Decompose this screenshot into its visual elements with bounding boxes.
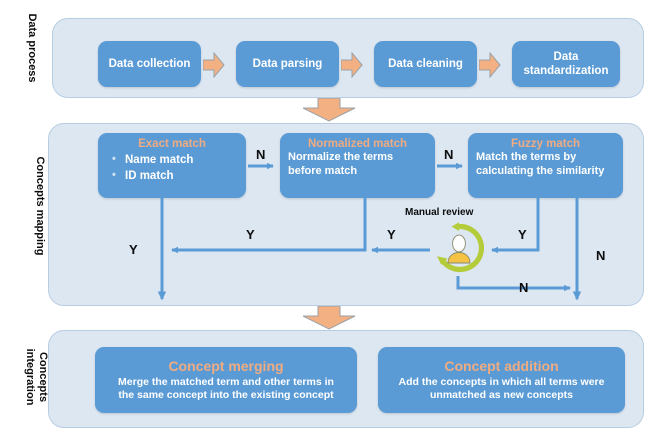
step-normalized-match-line1: Normalize the terms xyxy=(280,151,435,165)
step-concept-addition-line2: unmatched as new concepts xyxy=(378,389,625,402)
manual-review-label: Manual review xyxy=(405,206,473,220)
edge-label-y-exact-down: Y xyxy=(129,243,138,257)
step-fuzzy-match-title: Fuzzy match xyxy=(468,137,623,151)
edge-label-n-fuzzy-down: N xyxy=(596,249,605,263)
step-concept-addition[interactable]: Concept addition Add the concepts in whi… xyxy=(378,347,625,413)
step-concept-merging-title: Concept merging xyxy=(95,358,357,375)
step-normalized-match-title: Normalized match xyxy=(280,137,435,151)
section-label-concepts-integration: Concepts integration xyxy=(23,332,49,422)
step-data-cleaning[interactable]: Data cleaning xyxy=(374,41,477,87)
step-concept-merging-line1: Merge the matched term and other terms i… xyxy=(95,376,357,389)
diagram-canvas: Data process Data collection Data parsin… xyxy=(0,0,659,445)
step-normalized-match-line2: before match xyxy=(280,165,435,179)
edge-label-y-fuzzy-to-review: Y xyxy=(518,228,527,242)
exact-match-bullet-list: Name match ID match xyxy=(98,152,246,184)
step-data-standardization[interactable]: Data standardization xyxy=(512,41,620,87)
step-exact-match[interactable]: Exact match Name match ID match xyxy=(98,133,246,198)
step-concept-merging-line2: the same concept into the existing conce… xyxy=(95,389,357,402)
step-concept-addition-title: Concept addition xyxy=(378,358,625,375)
edge-label-y-review-left: Y xyxy=(387,228,396,242)
step-data-parsing-label: Data parsing xyxy=(236,57,339,71)
section-label-concepts-mapping: Concepts mapping xyxy=(34,154,46,258)
section-label-data-process: Data process xyxy=(26,12,38,84)
edge-label-n-review-right: N xyxy=(519,281,528,295)
step-fuzzy-match-line1: Match the terms by xyxy=(468,151,623,165)
edge-label-n-normalized-to-fuzzy: N xyxy=(444,148,453,162)
list-item: ID match xyxy=(112,168,246,184)
step-data-collection[interactable]: Data collection xyxy=(98,41,201,87)
arrow-right-icon xyxy=(203,52,225,78)
edge-label-y-normalized-left: Y xyxy=(246,228,255,242)
step-concept-addition-line1: Add the concepts in which all terms were xyxy=(378,376,625,389)
arrow-down-icon xyxy=(302,306,356,330)
step-concept-merging[interactable]: Concept merging Merge the matched term a… xyxy=(95,347,357,413)
arrow-right-icon xyxy=(479,52,501,78)
step-data-standardization-label: Data standardization xyxy=(512,50,620,78)
step-data-cleaning-label: Data cleaning xyxy=(374,57,477,71)
step-data-collection-label: Data collection xyxy=(98,57,201,71)
step-exact-match-title: Exact match xyxy=(98,137,246,151)
arrow-right-icon xyxy=(341,52,363,78)
step-normalized-match[interactable]: Normalized match Normalize the terms bef… xyxy=(280,133,435,198)
step-data-parsing[interactable]: Data parsing xyxy=(236,41,339,87)
arrow-down-icon xyxy=(302,98,356,122)
edge-label-n-exact-to-normalized: N xyxy=(256,148,265,162)
step-fuzzy-match[interactable]: Fuzzy match Match the terms by calculati… xyxy=(468,133,623,198)
manual-review-person-recycle-icon xyxy=(433,222,485,274)
list-item: Name match xyxy=(112,152,246,168)
step-fuzzy-match-line2: calculating the similarity xyxy=(468,165,623,179)
